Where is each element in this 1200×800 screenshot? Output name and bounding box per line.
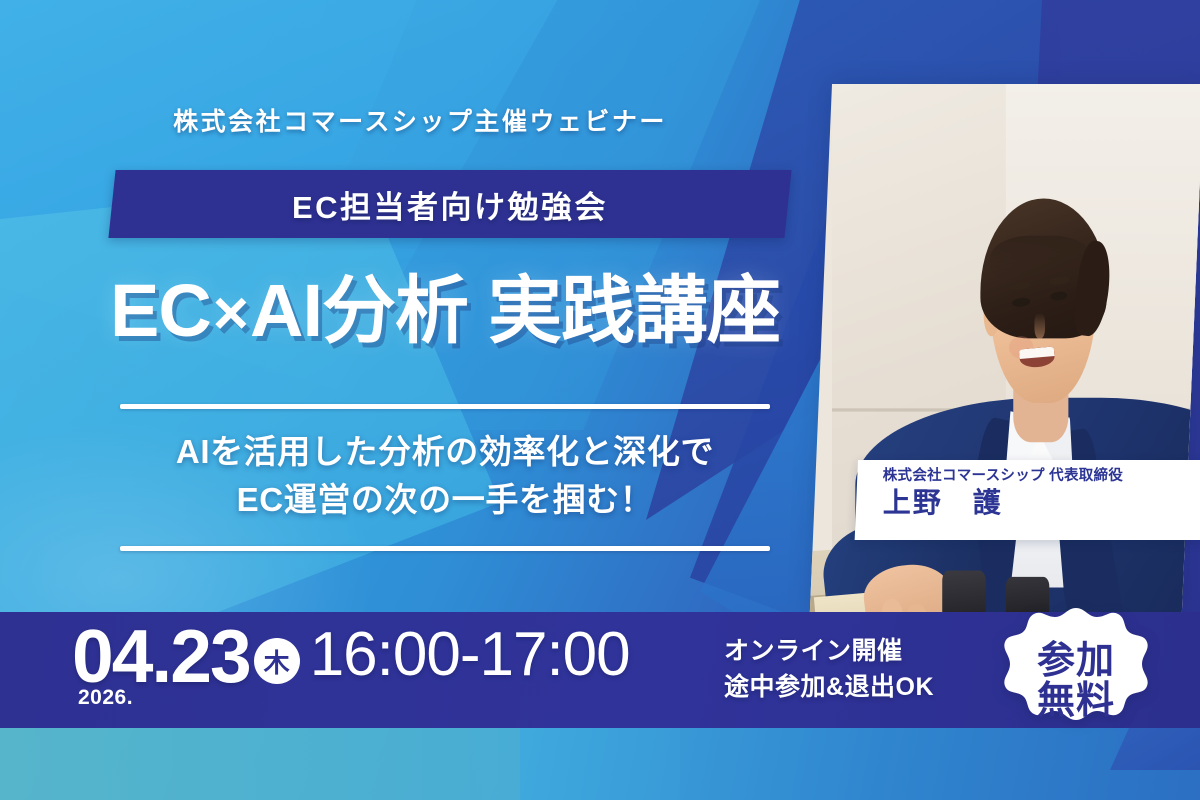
title-part-three: 実践講座	[488, 269, 780, 352]
divider-bottom	[120, 546, 770, 551]
free-badge: 参加 無料	[994, 606, 1158, 756]
photo-desk-object-one	[942, 571, 985, 612]
photo-teeth	[1019, 347, 1055, 360]
weekday-badge: 木	[254, 638, 300, 684]
ribbon-label: EC担当者向け勉強会	[112, 170, 788, 238]
host-line: 株式会社コマースシップ主催ウェビナー	[0, 102, 840, 138]
year-label: 2026.	[78, 686, 133, 710]
subtitle: AIを活用した分析の効率化と深化で EC運営の次の一手を掴む！	[0, 428, 890, 524]
subtitle-line-two: EC運営の次の一手を掴む！	[0, 476, 890, 524]
speaker-name-plate: 株式会社コマースシップ 代表取締役 上野 護	[855, 460, 1200, 540]
badge-text: 参加 無料	[994, 606, 1158, 756]
page-title: EC×AI分析実践講座	[0, 272, 890, 350]
time-range: 16:00-17:00	[310, 624, 630, 686]
event-notes: オンライン開催 途中参加&退出OK	[724, 634, 934, 705]
title-multiply-icon: ×	[213, 279, 248, 348]
title-part-one: EC	[110, 269, 211, 352]
speaker-name: 上野 護	[883, 487, 1200, 519]
event-note-line-two: 途中参加&退出OK	[724, 670, 934, 706]
event-note-line-one: オンライン開催	[724, 634, 934, 670]
title-part-two: AI分析	[250, 269, 468, 352]
badge-line-two: 無料	[1037, 681, 1115, 721]
ribbon-banner: EC担当者向け勉強会	[108, 170, 791, 238]
speaker-name-plate-inner: 株式会社コマースシップ 代表取締役 上野 護	[857, 460, 1200, 520]
speaker-company-title: 株式会社コマースシップ 代表取締役	[883, 468, 1200, 485]
subtitle-line-one: AIを活用した分析の効率化と深化で	[0, 428, 890, 476]
photo-nose	[1035, 313, 1045, 338]
divider-top	[120, 404, 770, 409]
month-day: 04.23	[72, 620, 250, 692]
date-block: 2026. 04.23 木 16:00-17:00	[72, 620, 630, 692]
webinar-banner: 株式会社コマースシップ 代表取締役 上野 護 株式会社コマースシップ主催ウェビナ…	[0, 0, 1200, 800]
badge-line-one: 参加	[1037, 641, 1115, 681]
